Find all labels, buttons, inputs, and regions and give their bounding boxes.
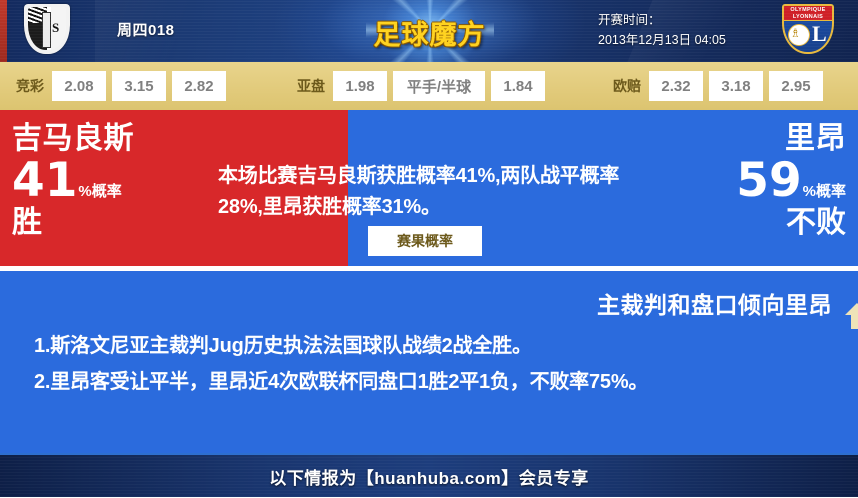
odds-cell-handicap-line[interactable]: 平手/半球 (393, 71, 485, 101)
away-team-crest-icon: OLYMPIQUE LYONNAIS ♗ L (780, 4, 836, 58)
kickoff-value: 2013年12月13日 04:05 (598, 30, 758, 50)
odds-cell-draw[interactable]: 3.18 (709, 71, 763, 101)
intel-item: 2.里昂客受让平半，里昂近4次欧联杯同盘口1胜2平1负，不败率75%。 (34, 364, 824, 400)
odds-cell-draw[interactable]: 3.15 (112, 71, 166, 101)
away-team-name: 里昂 (626, 120, 846, 157)
brand-title: 足球魔方 (352, 13, 507, 52)
probability-tab-label: 赛果概率 (368, 226, 482, 256)
home-crest-glyph: S (52, 20, 59, 36)
odds-group-title: 亚盘 (297, 76, 325, 96)
brand-logo: 足球魔方 (352, 0, 507, 62)
odds-cell-home[interactable]: 2.08 (52, 71, 106, 101)
odds-cell-away[interactable]: 2.82 (172, 71, 226, 101)
match-round-label: 周四018 (117, 19, 175, 40)
away-crest-shield: OLYMPIQUE LYONNAIS ♗ L (782, 4, 834, 54)
away-percent-row: 59%概率 (626, 157, 846, 205)
odds-cell-away[interactable]: 2.95 (769, 71, 823, 101)
odds-group-title: 欧赔 (613, 76, 641, 96)
odds-cell-away[interactable]: 1.84 (491, 71, 545, 101)
kickoff-label: 开赛时间： (598, 10, 758, 30)
intel-headline-row: 主裁判和盘口倾向里昂 (597, 286, 844, 320)
intel-item: 1.斯洛文尼亚主裁判Jug历史执法法国球队战绩2战全胜。 (34, 328, 824, 364)
footer-bar: 以下情报为【huanhuba.com】会员专享 (0, 453, 858, 497)
footer-membership-note: 以下情报为【huanhuba.com】会员专享 (269, 464, 588, 489)
away-percent-suffix: %概率 (803, 183, 846, 200)
away-crest-letter: L (812, 22, 827, 46)
odds-group-title: 竞彩 (16, 76, 44, 96)
promo-graphic: S 周四018 足球魔方 开赛时间： 2013年12月13日 04:05 OLY… (0, 0, 858, 498)
away-probability-text: 里昂 59%概率 不败 (626, 120, 846, 241)
home-percent-suffix: %概率 (78, 183, 121, 200)
away-crest-banner-line1: OLYMPIQUE (784, 7, 832, 14)
away-crest-banner: OLYMPIQUE LYONNAIS (784, 6, 832, 21)
home-percent-row: 41%概率 (12, 157, 202, 205)
odds-group-european: 欧赔 2.32 3.18 2.95 (613, 71, 829, 101)
probability-summary: 本场比赛吉马良斯获胜概率41%,两队战平概率28%,里昂获胜概率31%。 (218, 161, 638, 223)
away-verdict: 不败 (626, 205, 846, 241)
intel-headline: 主裁判和盘口倾向里昂 (597, 286, 832, 320)
kickoff-time-block: 开赛时间： 2013年12月13日 04:05 (598, 10, 758, 50)
home-crest-inner: S (28, 7, 66, 50)
home-team-name: 吉马良斯 (12, 120, 202, 157)
home-percent-number: 41 (12, 153, 77, 208)
odds-bar: 竞彩 2.08 3.15 2.82 亚盘 1.98 平手/半球 1.84 欧赔 … (0, 62, 858, 110)
away-crest-lion-icon: ♗ (790, 26, 801, 40)
odds-cell-home[interactable]: 2.32 (649, 71, 703, 101)
intel-item-list: 1.斯洛文尼亚主裁判Jug历史执法法国球队战绩2战全胜。 2.里昂客受让平半，里… (34, 328, 824, 400)
home-verdict: 胜 (12, 205, 202, 241)
away-crest-banner-line2: LYONNAIS (784, 14, 832, 21)
odds-group-jingcai: 竞彩 2.08 3.15 2.82 (16, 71, 232, 101)
probability-band: 吉马良斯 41%概率 胜 赛果概率 本场比赛吉马良斯获胜概率41%,两队战平概率… (0, 110, 858, 266)
home-probability-text: 吉马良斯 41%概率 胜 (12, 120, 202, 241)
header-bar: S 周四018 足球魔方 开赛时间： 2013年12月13日 04:05 OLY… (0, 0, 858, 62)
odds-cell-home[interactable]: 1.98 (333, 71, 387, 101)
header-accent-stripe (0, 0, 7, 62)
intel-panel: 主裁判和盘口倾向里昂 1.斯洛文尼亚主裁判Jug历史执法法国球队战绩2战全胜。 … (0, 271, 858, 453)
home-team-crest-icon: S (20, 3, 76, 59)
odds-group-asian-handicap: 亚盘 1.98 平手/半球 1.84 (297, 71, 551, 101)
home-crest-tower (42, 12, 51, 48)
away-percent-number: 59 (736, 153, 801, 208)
